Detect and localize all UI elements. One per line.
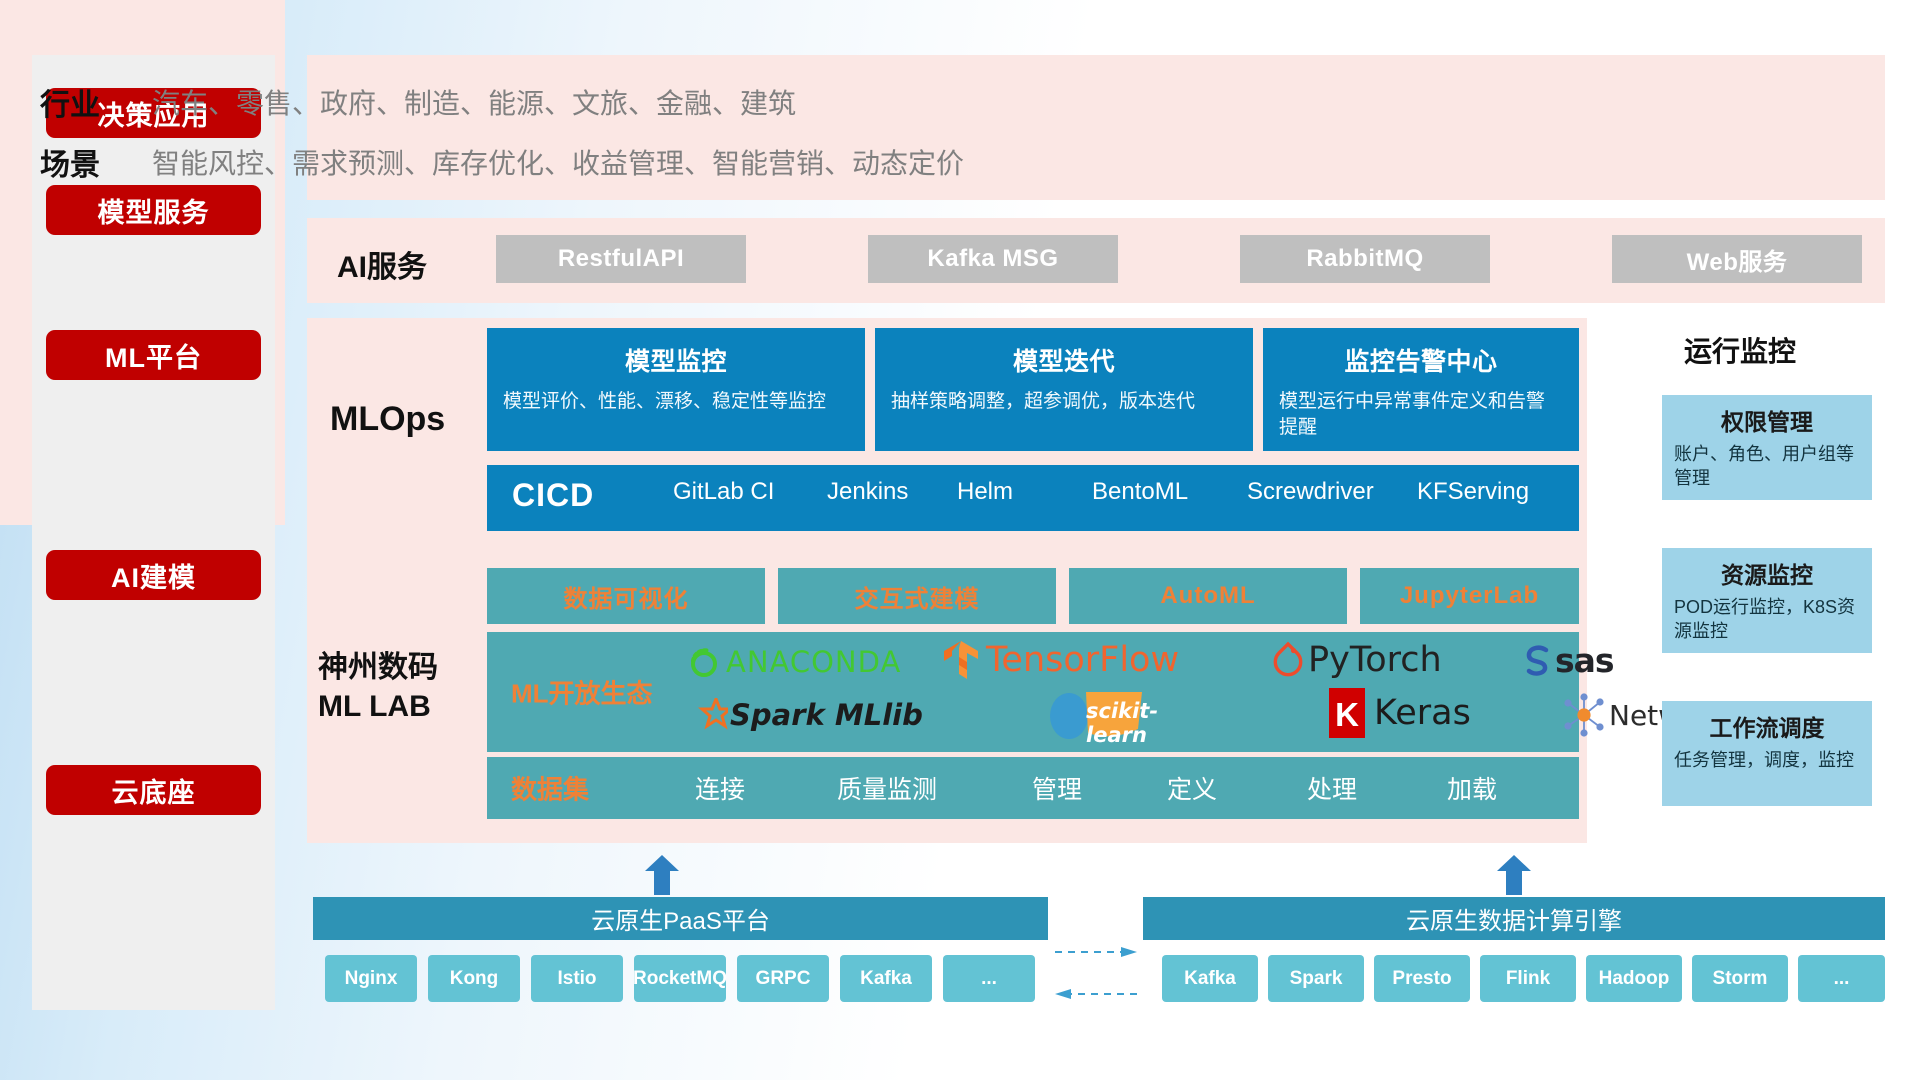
mllab-tab-interactive-modeling[interactable]: 交互式建模 xyxy=(778,568,1056,624)
cloud-chip-kong[interactable]: Kong xyxy=(428,955,520,1002)
dataset-item-quality[interactable]: 质量监测 xyxy=(837,770,937,806)
mlops-card-model-iteration[interactable]: 模型迭代 抽样策略调整，超参调优，版本迭代 xyxy=(875,328,1253,451)
ai-service-label: AI服务 xyxy=(337,242,427,286)
sas-logo: sas xyxy=(1522,638,1614,682)
card-desc: 模型评价、性能、漂移、稳定性等监控 xyxy=(503,389,849,415)
pytorch-logo: PyTorch xyxy=(1272,636,1442,684)
ml-lab-label-line1: 神州数码 xyxy=(318,648,438,687)
scenario-key: 场景 xyxy=(40,140,100,184)
spark-mllib-logo-text: Spark MLlib xyxy=(730,698,923,732)
dataset-item-process[interactable]: 处理 xyxy=(1307,770,1357,806)
cloud-chip-nginx[interactable]: Nginx xyxy=(325,955,417,1002)
cloud-chip-rocketmq[interactable]: RocketMQ xyxy=(634,955,726,1002)
cicd-item-jenkins[interactable]: Jenkins xyxy=(827,479,957,506)
cloud-chip-more-right[interactable]: ... xyxy=(1798,955,1885,1002)
ml-ecosystem-label: ML开放生态 xyxy=(511,674,653,711)
anaconda-logo: ANACONDA xyxy=(687,640,901,684)
rail-item-cloud-base[interactable]: 云底座 xyxy=(46,765,261,815)
card-title: 监控告警中心 xyxy=(1279,342,1563,378)
cloud-engine-bar[interactable]: 云原生数据计算引擎 xyxy=(1143,897,1885,940)
cicd-item-helm[interactable]: Helm xyxy=(957,479,1087,506)
ml-lab-label: 神州数码 ML LAB xyxy=(318,648,438,726)
cloud-chip-kafka-right[interactable]: Kafka xyxy=(1162,955,1258,1002)
tensorflow-logo: TensorFlow xyxy=(942,636,1179,684)
arrow-up-paas-icon xyxy=(645,855,679,895)
rail-label: 云底座 xyxy=(112,771,196,810)
keras-logo: K Keras xyxy=(1327,686,1471,740)
mllab-tab-data-visualization[interactable]: 数据可视化 xyxy=(487,568,765,624)
monitoring-card-permission[interactable]: 权限管理 账户、角色、用户组等管理 xyxy=(1662,395,1872,500)
anaconda-logo-text: ANACONDA xyxy=(726,645,901,679)
card-desc: 抽样策略调整，超参调优，版本迭代 xyxy=(891,389,1237,415)
cicd-item-kfserving[interactable]: KFServing xyxy=(1417,479,1547,506)
layer-rail: 决策应用 模型服务 ML平台 AI建模 云底座 xyxy=(32,55,275,1010)
ai-service-chip-web-service[interactable]: Web服务 xyxy=(1612,235,1862,283)
card-desc: 任务管理，调度，监控 xyxy=(1674,749,1860,773)
cloud-chip-hadoop[interactable]: Hadoop xyxy=(1586,955,1682,1002)
rail-label: 模型服务 xyxy=(98,191,210,230)
cloud-chip-more-left[interactable]: ... xyxy=(943,955,1035,1002)
card-title: 权限管理 xyxy=(1674,403,1860,437)
card-desc: 模型运行中异常事件定义和告警提醒 xyxy=(1279,389,1563,440)
dataset-item-manage[interactable]: 管理 xyxy=(1032,770,1082,806)
cicd-title: CICD xyxy=(512,477,594,514)
dataset-label: 数据集 xyxy=(511,770,589,807)
cloud-chip-spark[interactable]: Spark xyxy=(1268,955,1364,1002)
card-desc: POD运行监控，K8S资源监控 xyxy=(1674,596,1860,644)
tensorflow-logo-text: TensorFlow xyxy=(986,640,1179,680)
card-desc: 账户、角色、用户组等管理 xyxy=(1674,443,1860,491)
keras-logo-text: Keras xyxy=(1374,693,1471,733)
rail-label: AI建模 xyxy=(111,556,196,595)
cicd-item-gitlab-ci[interactable]: GitLab CI xyxy=(673,479,803,506)
ai-service-chip-rabbitmq[interactable]: RabbitMQ xyxy=(1240,235,1490,283)
ml-lab-label-line2: ML LAB xyxy=(318,687,438,726)
mlops-label: MLOps xyxy=(330,400,445,439)
monitoring-title: 运行监控 xyxy=(1640,330,1840,370)
cloud-chip-flink[interactable]: Flink xyxy=(1480,955,1576,1002)
mlops-card-alert-center[interactable]: 监控告警中心 模型运行中异常事件定义和告警提醒 xyxy=(1263,328,1579,451)
card-title: 模型监控 xyxy=(503,342,849,378)
cloud-chip-presto[interactable]: Presto xyxy=(1374,955,1470,1002)
scikit-learn-logo-text: scikit-learn xyxy=(1086,699,1158,747)
cicd-bar: CICD GitLab CI Jenkins Helm BentoML Scre… xyxy=(487,465,1579,531)
dashed-connector xyxy=(1055,944,1137,1006)
monitoring-card-workflow[interactable]: 工作流调度 任务管理，调度，监控 xyxy=(1662,701,1872,806)
cloud-chip-storm[interactable]: Storm xyxy=(1692,955,1788,1002)
mllab-tab-jupyterlab[interactable]: JupyterLab xyxy=(1360,568,1579,624)
svg-text:K: K xyxy=(1335,696,1359,733)
mllab-tab-automl[interactable]: AutoML xyxy=(1069,568,1347,624)
spark-mllib-logo: Spark MLlib xyxy=(692,690,923,740)
ml-ecosystem-band: ML开放生态 ANACONDA TensorFlow PyTorch xyxy=(487,632,1579,752)
sas-logo-text: sas xyxy=(1555,641,1614,680)
card-title: 工作流调度 xyxy=(1674,709,1860,743)
scenario-value: 智能风控、需求预测、库存优化、收益管理、智能营销、动态定价 xyxy=(152,142,964,182)
dataset-item-load[interactable]: 加载 xyxy=(1447,770,1497,806)
cicd-item-bentoml[interactable]: BentoML xyxy=(1092,479,1222,506)
cloud-chip-grpc[interactable]: GRPC xyxy=(737,955,829,1002)
ai-service-chip-kafka-msg[interactable]: Kafka MSG xyxy=(868,235,1118,283)
industry-value: 汽车、零售、政府、制造、能源、文旅、金融、建筑 xyxy=(152,82,796,122)
scikit-learn-logo: scikit-learn xyxy=(1042,688,1148,740)
rail-label: ML平台 xyxy=(105,336,202,375)
architecture-diagram: 决策应用 模型服务 ML平台 AI建模 云底座 行业 汽车、零售、政府、制造、能… xyxy=(0,0,1920,1080)
rail-item-ml-platform[interactable]: ML平台 xyxy=(46,330,261,380)
cicd-item-screwdriver[interactable]: Screwdriver xyxy=(1247,479,1377,506)
monitoring-card-resource[interactable]: 资源监控 POD运行监控，K8S资源监控 xyxy=(1662,548,1872,653)
cloud-chip-kafka[interactable]: Kafka xyxy=(840,955,932,1002)
card-title: 模型迭代 xyxy=(891,342,1237,378)
rail-item-model-service[interactable]: 模型服务 xyxy=(46,185,261,235)
pytorch-logo-text: PyTorch xyxy=(1308,640,1442,680)
arrow-up-engine-icon xyxy=(1497,855,1531,895)
cloud-chip-istio[interactable]: Istio xyxy=(531,955,623,1002)
dataset-item-connect[interactable]: 连接 xyxy=(695,770,745,806)
card-title: 资源监控 xyxy=(1674,556,1860,590)
ai-service-chip-restfulapi[interactable]: RestfulAPI xyxy=(496,235,746,283)
mlops-card-model-monitoring[interactable]: 模型监控 模型评价、性能、漂移、稳定性等监控 xyxy=(487,328,865,451)
ai-service-panel: AI服务 RestfulAPI Kafka MSG RabbitMQ Web服务 xyxy=(307,218,1885,303)
cloud-paas-bar[interactable]: 云原生PaaS平台 xyxy=(313,897,1048,940)
rail-item-ai-modeling[interactable]: AI建模 xyxy=(46,550,261,600)
dataset-item-define[interactable]: 定义 xyxy=(1167,770,1217,806)
industry-key: 行业 xyxy=(40,80,100,124)
dataset-band: 数据集 连接 质量监测 管理 定义 处理 加载 xyxy=(487,757,1579,819)
